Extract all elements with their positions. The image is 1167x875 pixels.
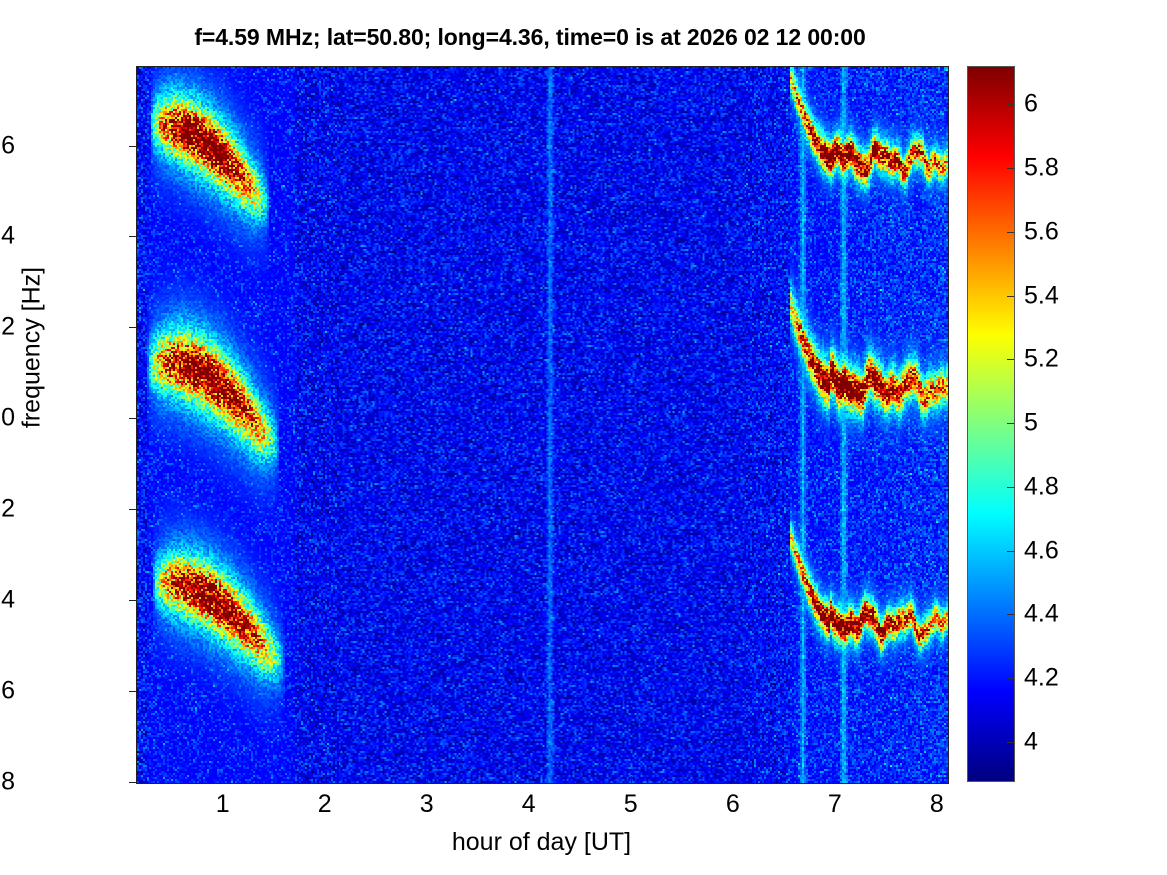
y-tick-label: -8 (0, 768, 15, 797)
x-tick-label: 3 (397, 790, 457, 819)
colorbar-gradient (968, 67, 1014, 781)
y-tick-label: -4 (0, 586, 15, 615)
y-tick-mark (129, 418, 136, 419)
x-tick-mark (325, 776, 326, 783)
x-axis-label: hour of day [UT] (136, 828, 947, 857)
colorbar-tick-mark (1007, 104, 1014, 105)
x-tick-mark (937, 776, 938, 783)
colorbar-tick-mark (1007, 359, 1014, 360)
page-title: f=4.59 MHz; lat=50.80; long=4.36, time=0… (0, 24, 1060, 51)
y-axis-label: frequency [Hz] (18, 68, 47, 628)
x-tick-label: 4 (499, 790, 559, 819)
colorbar-tick-label: 5 (1024, 409, 1104, 438)
plot-area (136, 66, 949, 784)
x-tick-mark (631, 776, 632, 783)
colorbar-tick-mark (1007, 296, 1014, 297)
colorbar (967, 66, 1015, 782)
y-tick-label: 4 (0, 222, 15, 251)
colorbar-tick-label: 4.6 (1024, 536, 1104, 565)
colorbar-tick-label: 5.8 (1024, 154, 1104, 183)
y-tick-label: 0 (0, 404, 15, 433)
colorbar-tick-mark (1007, 678, 1014, 679)
y-tick-label: -2 (0, 495, 15, 524)
y-tick-label: -6 (0, 677, 15, 706)
colorbar-tick-mark (1007, 551, 1014, 552)
x-tick-label: 5 (601, 790, 661, 819)
y-tick-mark (129, 509, 136, 510)
x-tick-mark (427, 776, 428, 783)
x-tick-mark (223, 776, 224, 783)
spectrogram-heatmap (137, 67, 948, 783)
y-tick-mark (129, 236, 136, 237)
colorbar-tick-mark (1007, 614, 1014, 615)
x-tick-label: 6 (703, 790, 763, 819)
x-tick-mark (835, 776, 836, 783)
colorbar-tick-label: 4 (1024, 727, 1104, 756)
colorbar-tick-label: 5.2 (1024, 345, 1104, 374)
x-tick-label: 8 (907, 790, 967, 819)
y-tick-mark (129, 782, 136, 783)
spectrogram-figure: f=4.59 MHz; lat=50.80; long=4.36, time=0… (0, 0, 1167, 875)
y-tick-label: 2 (0, 313, 15, 342)
x-tick-label: 7 (805, 790, 865, 819)
colorbar-tick-label: 4.8 (1024, 472, 1104, 501)
x-tick-mark (529, 776, 530, 783)
y-tick-mark (129, 691, 136, 692)
colorbar-tick-mark (1007, 423, 1014, 424)
y-tick-mark (129, 600, 136, 601)
colorbar-tick-label: 4.4 (1024, 600, 1104, 629)
colorbar-tick-mark (1007, 487, 1014, 488)
colorbar-tick-label: 5.6 (1024, 217, 1104, 246)
colorbar-tick-mark (1007, 232, 1014, 233)
y-tick-mark (129, 146, 136, 147)
x-tick-label: 2 (295, 790, 355, 819)
colorbar-tick-label: 6 (1024, 90, 1104, 119)
colorbar-tick-label: 4.2 (1024, 664, 1104, 693)
colorbar-tick-mark (1007, 168, 1014, 169)
y-tick-label: 6 (0, 131, 15, 160)
x-tick-mark (733, 776, 734, 783)
colorbar-tick-label: 5.4 (1024, 281, 1104, 310)
x-tick-label: 1 (193, 790, 253, 819)
y-tick-mark (129, 327, 136, 328)
colorbar-tick-mark (1007, 742, 1014, 743)
